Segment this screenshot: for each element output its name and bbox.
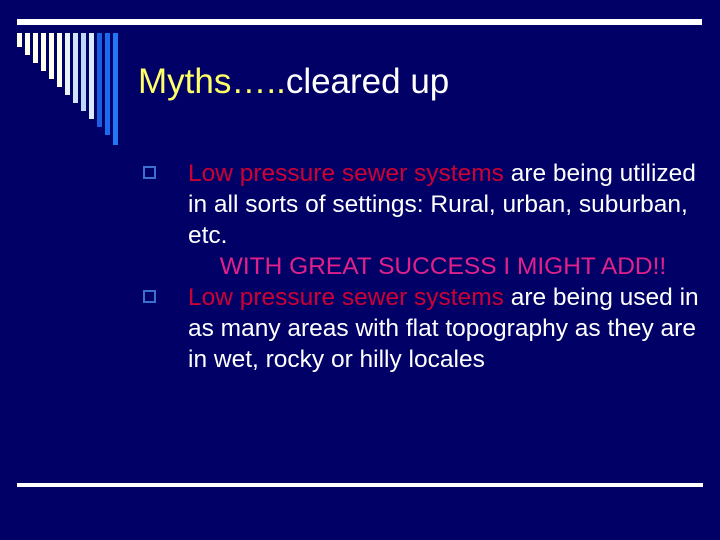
highlight-phrase: Low pressure sewer systems <box>188 284 504 311</box>
descending-bar-graphic <box>17 33 127 145</box>
emphasis-note: WITH GREAT SUCCESS I MIGHT ADD!! <box>138 251 708 282</box>
list-item: Low pressure sewer systems are being use… <box>138 282 708 375</box>
decorative-bar <box>33 33 38 63</box>
decorative-bar <box>113 33 118 145</box>
decorative-bar <box>57 33 62 87</box>
decorative-bar <box>97 33 102 127</box>
emphasis-note-text: WITH GREAT SUCCESS I MIGHT ADD!! <box>220 253 667 280</box>
decorative-bar <box>25 33 30 55</box>
decorative-bar <box>73 33 78 103</box>
page-title: Myths…..cleared up <box>138 62 708 102</box>
slide-canvas: Myths…..cleared up Low pressure sewer sy… <box>0 0 720 540</box>
square-bullet-icon <box>143 166 156 179</box>
decorative-bar <box>81 33 86 111</box>
list-item-text: Low pressure sewer systems are being use… <box>188 284 699 373</box>
list-item-text: Low pressure sewer systems are being uti… <box>188 160 696 249</box>
list-item: Low pressure sewer systems are being uti… <box>138 158 708 251</box>
decorative-bar <box>49 33 54 79</box>
decorative-bar <box>65 33 70 95</box>
bottom-horizontal-rule <box>17 483 703 487</box>
decorative-bar <box>17 33 22 47</box>
highlight-phrase: Low pressure sewer systems <box>188 160 504 187</box>
bullet-list: Low pressure sewer systems are being uti… <box>138 158 708 375</box>
top-horizontal-rule <box>17 19 702 25</box>
title-part-1: Myths <box>138 62 231 101</box>
square-bullet-icon <box>143 290 156 303</box>
decorative-bar <box>89 33 94 119</box>
title-part-2: cleared up <box>286 62 449 101</box>
decorative-bar <box>41 33 46 71</box>
decorative-bar <box>105 33 110 135</box>
title-dots: ….. <box>231 62 285 101</box>
